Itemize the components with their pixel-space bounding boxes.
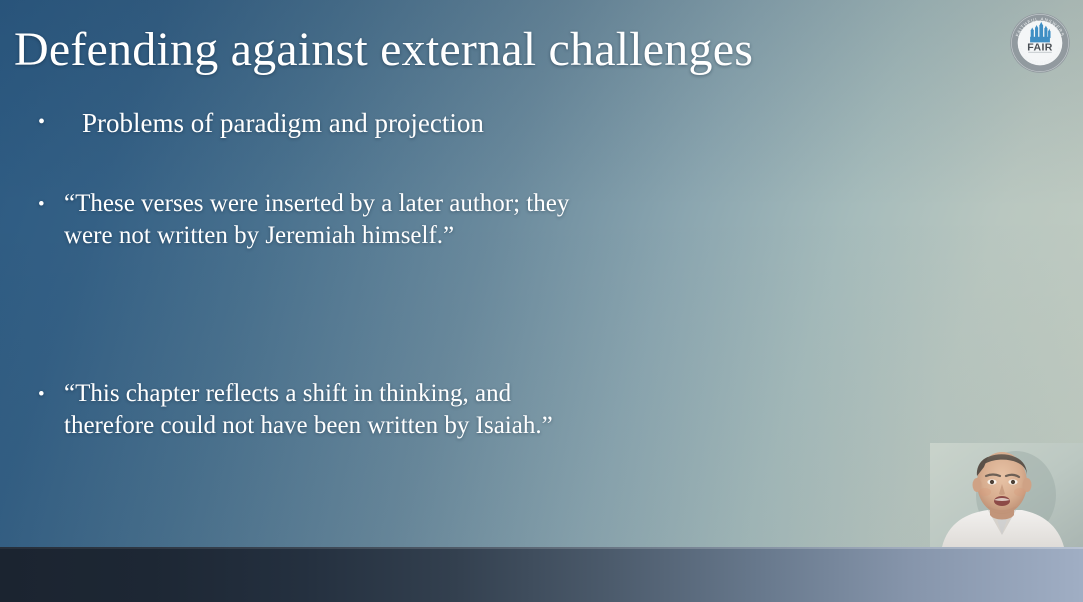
bottom-bar-highlight [0, 547, 1083, 549]
bullet-text: “This chapter reflects a shift in thinki… [60, 378, 553, 442]
list-item: • “This chapter reflects a shift in thin… [38, 378, 553, 442]
bullet-marker-icon: • [38, 378, 60, 404]
page-title: Defending against external challenges [14, 24, 964, 76]
list-item: • “These verses were inserted by a later… [38, 188, 569, 252]
bullet-text: Problems of paradigm and projection [60, 106, 484, 141]
list-item: • Problems of paradigm and projection [38, 106, 484, 141]
fair-logo-icon: FAITHFUL ANSWERS INFORMED RESPONSE FAIR [1009, 12, 1071, 74]
presentation-screen: Defending against external challenges • … [0, 0, 1083, 602]
presenter-video-thumbnail[interactable] [930, 443, 1083, 547]
logo-wordmark: FAIR [1027, 41, 1052, 53]
slide-canvas: Defending against external challenges • … [0, 0, 1083, 547]
bullet-text: “These verses were inserted by a later a… [60, 188, 569, 252]
bullet-marker-icon: • [38, 188, 60, 214]
bullet-marker-icon: • [38, 106, 60, 132]
bottom-bar [0, 547, 1083, 602]
